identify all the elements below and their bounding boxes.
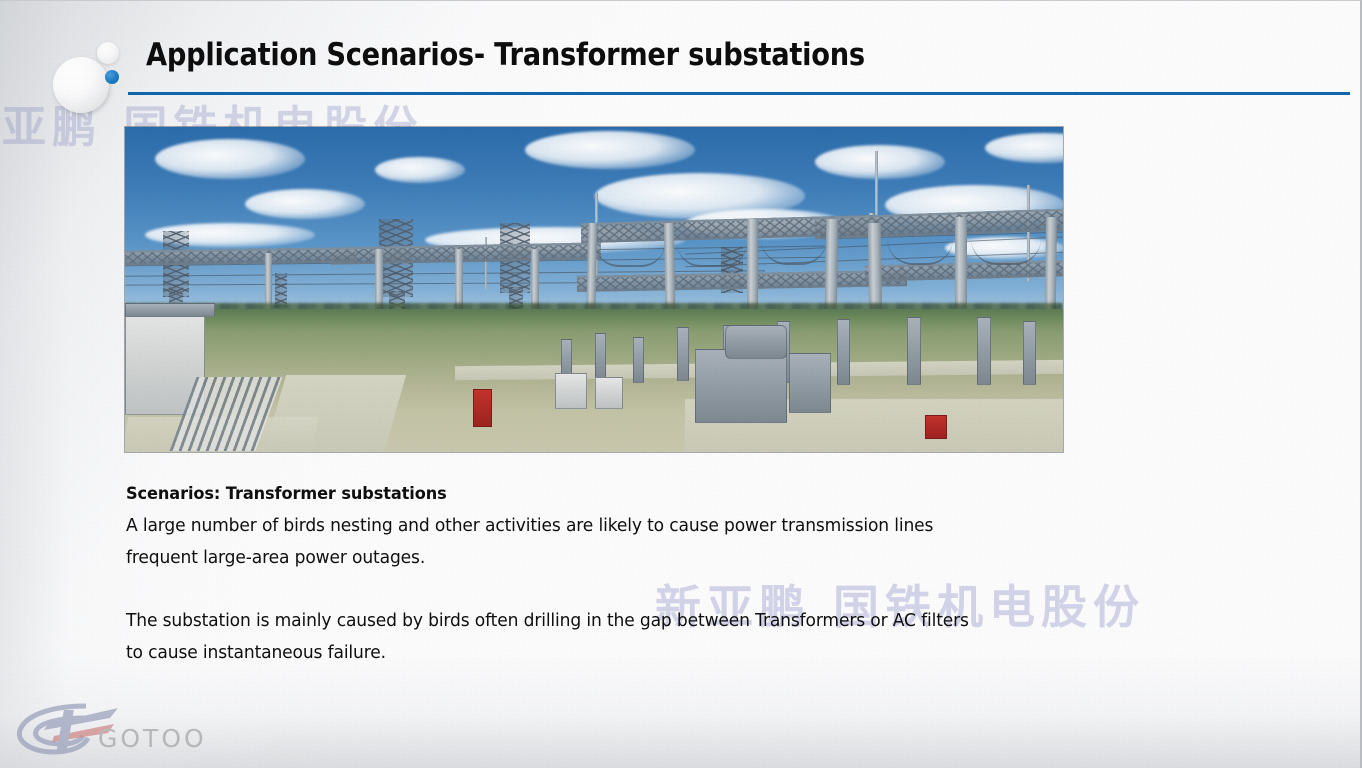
- cloud: [525, 131, 695, 169]
- cloud: [245, 189, 365, 219]
- paragraph-two: The substation is mainly caused by birds…: [126, 605, 981, 668]
- logo-wordmark: GOTOO: [98, 724, 207, 753]
- slide-canvas: 国铁机电股份 亚鹏 国铁机电股份 新亚鹏 国铁机电股份 Application …: [0, 0, 1362, 768]
- body-copy: Scenarios: Transformer substations A lar…: [126, 479, 1026, 668]
- insulator-stack: [977, 317, 991, 385]
- blue-dot-icon: [105, 70, 119, 84]
- gotoo-logo: GOTOO: [14, 698, 204, 760]
- fire-cabinet: [473, 389, 492, 427]
- title-underline-rule: [128, 92, 1350, 95]
- insulator-stack: [633, 337, 644, 383]
- power-transformer: [695, 349, 787, 423]
- cloud: [815, 145, 945, 179]
- gantry-beam: [125, 247, 355, 265]
- large-circle-icon: [53, 57, 109, 113]
- fire-cabinet: [925, 415, 947, 439]
- scenario-lead: Scenarios: Transformer substations: [126, 479, 981, 510]
- building-roof: [125, 303, 215, 317]
- cloud: [155, 139, 305, 179]
- insulator-stack: [837, 319, 850, 385]
- transformer-radiator: [789, 353, 831, 413]
- page-title: Application Scenarios- Transformer subst…: [146, 34, 865, 76]
- insulator-stack: [595, 333, 606, 381]
- insulator-stack: [1023, 321, 1036, 385]
- cloud: [375, 157, 465, 183]
- small-circle-icon: [97, 42, 119, 64]
- control-cabinet: [555, 373, 587, 409]
- gf-monogram-icon: [14, 698, 204, 760]
- insulator-stack: [677, 327, 689, 381]
- substation-photo: [125, 127, 1063, 452]
- paragraph-one: A large number of birds nesting and othe…: [126, 510, 981, 573]
- control-cabinet: [595, 377, 623, 409]
- insulator-stack: [907, 317, 921, 385]
- transformer-bushing-housing: [725, 325, 787, 359]
